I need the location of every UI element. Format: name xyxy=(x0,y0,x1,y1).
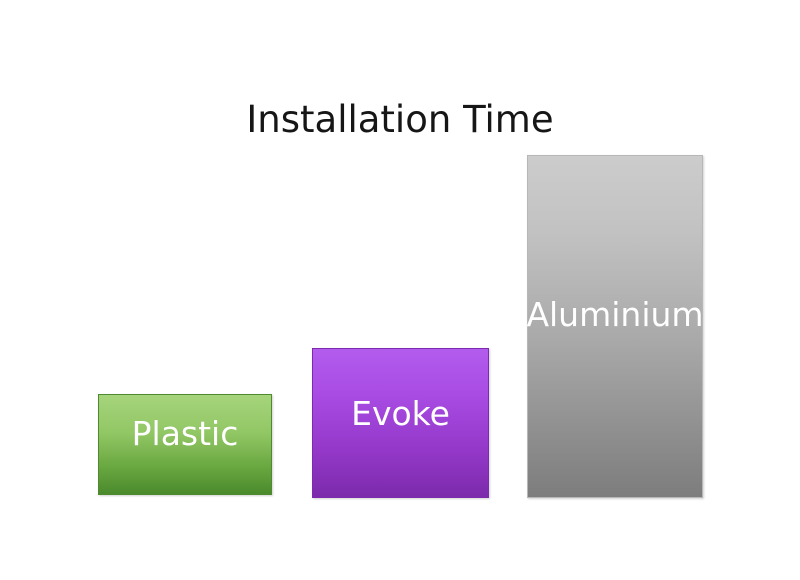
plot-area: Plastic Evoke Aluminium xyxy=(0,0,800,580)
bar-aluminium[interactable]: Aluminium xyxy=(527,155,703,498)
bar-evoke[interactable]: Evoke xyxy=(312,348,489,498)
bar-plastic[interactable]: Plastic xyxy=(98,394,272,495)
bar-label-evoke: Evoke xyxy=(351,397,450,430)
installation-time-bar-chart: Installation Time Plastic Evoke Aluminiu… xyxy=(0,0,800,580)
bar-label-aluminium: Aluminium xyxy=(526,298,703,331)
bar-label-plastic: Plastic xyxy=(132,417,239,450)
